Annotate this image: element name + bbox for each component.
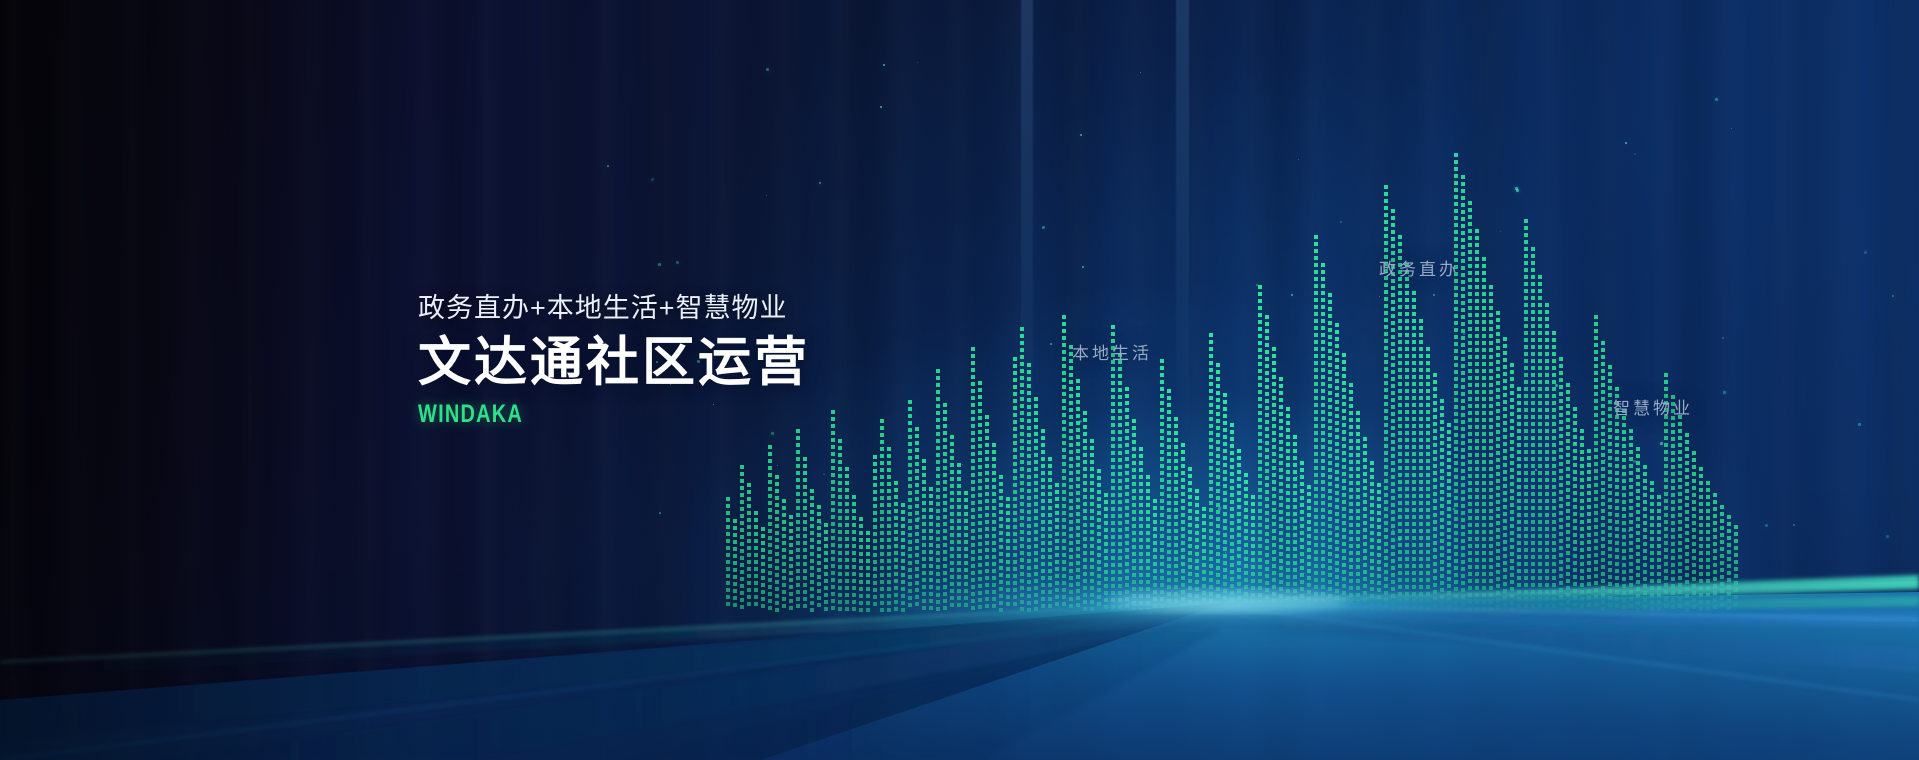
particle-dot — [1324, 443, 1325, 444]
particle-dot — [1574, 442, 1576, 444]
particle-dot — [1262, 441, 1264, 443]
particle-dot — [1379, 296, 1380, 297]
particle-dot — [1291, 294, 1293, 296]
particle-dot — [1892, 295, 1894, 297]
particle-dot — [883, 64, 885, 66]
particle-dot — [819, 522, 822, 525]
particle-dot — [1297, 476, 1298, 477]
particle-dot — [777, 465, 778, 466]
particle-dot — [1532, 438, 1534, 440]
particle-dot — [1433, 294, 1435, 296]
particle-dot — [1692, 455, 1693, 456]
particle-dot — [766, 68, 769, 71]
particle-dot — [766, 195, 767, 196]
particle-dot — [1050, 343, 1052, 345]
particle-dot — [771, 432, 774, 435]
brand-wordmark: WINDAKA — [418, 400, 914, 429]
particle-dot — [607, 165, 609, 167]
particle-dot — [1634, 153, 1636, 155]
particle-dot — [962, 464, 963, 465]
particle-dot — [1688, 540, 1690, 542]
particle-dot — [1864, 251, 1867, 254]
particle-dot — [1858, 423, 1861, 426]
hero-banner: 政务直办 本地生活 智慧物业 政务直办+本地生活+智慧物业 文达通社区运营 WI… — [0, 0, 1919, 760]
particle-dot — [1715, 98, 1718, 101]
particle-dot — [1298, 159, 1299, 160]
particle-dot — [1660, 442, 1663, 445]
particle-dot — [917, 62, 918, 63]
particle-dot — [1535, 469, 1537, 471]
particle-dot — [1723, 391, 1726, 394]
floating-label-zhengwuzhiban: 政务直办 — [1379, 255, 1459, 280]
particle-dot — [676, 261, 679, 264]
particle-dot — [1731, 128, 1732, 129]
particle-dot — [1218, 507, 1221, 510]
particle-dot — [658, 263, 661, 266]
hero-copy-block: 政务直办+本地生活+智慧物业 文达通社区运营 WINDAKA — [418, 292, 1038, 429]
particle-dot — [1256, 284, 1258, 286]
particle-dot — [823, 473, 825, 475]
particle-dot — [1765, 524, 1768, 527]
particle-dot — [1625, 142, 1627, 144]
particle-dot — [1886, 535, 1889, 538]
particle-dot — [1042, 226, 1045, 229]
hero-subtitle: 政务直办+本地生活+智慧物业 — [418, 292, 1038, 324]
particle-dot — [1392, 529, 1394, 531]
particle-dot — [1500, 231, 1501, 232]
particle-dot — [819, 182, 821, 184]
particle-dot — [832, 502, 833, 503]
particle-dot — [1082, 266, 1084, 268]
particle-dot — [1079, 420, 1082, 423]
particle-dot — [1140, 72, 1141, 73]
particle-dot — [1080, 134, 1082, 136]
floating-label-bendishenghuo: 本地生活 — [1072, 339, 1152, 364]
particle-dot — [1555, 384, 1558, 387]
particle-dot — [1340, 221, 1342, 223]
page-title: 文达通社区运营 — [418, 333, 1038, 392]
particle-dot — [1515, 187, 1518, 190]
particle-dot — [651, 178, 654, 181]
particle-dot — [1568, 516, 1569, 517]
particle-dot — [1604, 459, 1606, 461]
particle-dot — [917, 517, 920, 520]
particle-dot — [1463, 333, 1465, 335]
particle-dot — [1453, 508, 1455, 510]
particle-dot — [1722, 337, 1724, 339]
particle-dot — [880, 106, 882, 108]
floating-label-zhihuiwuye: 智慧物业 — [1613, 394, 1693, 419]
particle-dot — [659, 512, 661, 514]
particle-dot — [1225, 552, 1226, 553]
particle-dot — [1398, 538, 1401, 541]
particle-dot — [1628, 530, 1630, 532]
particle-dot — [1636, 463, 1638, 465]
particle-dot — [1793, 524, 1795, 526]
